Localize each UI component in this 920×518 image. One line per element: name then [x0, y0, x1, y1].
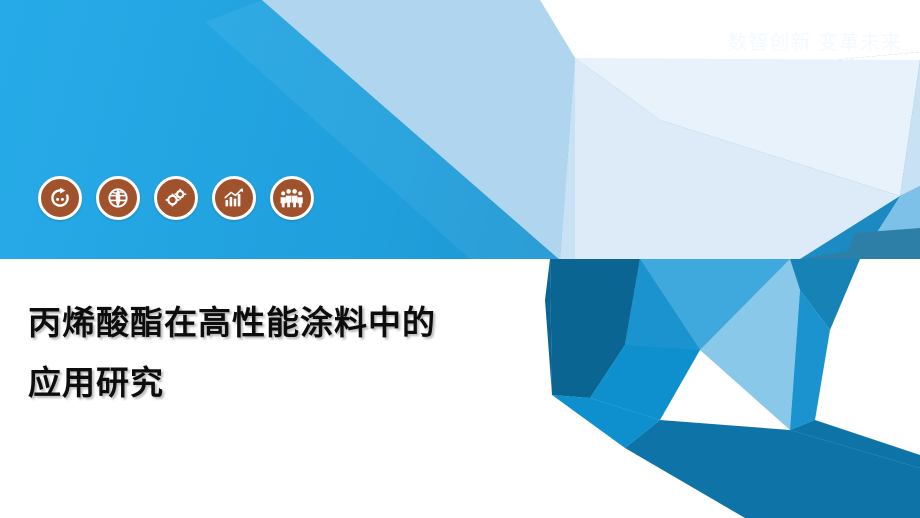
page-title: 丙烯酸酯在高性能涂料中的 应用研究	[28, 293, 548, 413]
poly-paleblue-left	[262, 0, 575, 260]
gears-icon[interactable]	[154, 176, 198, 220]
title-line-1: 丙烯酸酯在高性能涂料中的	[28, 293, 548, 353]
globe-icon[interactable]	[96, 176, 140, 220]
globe-glyph	[106, 186, 130, 210]
title-line-2: 应用研究	[28, 353, 548, 413]
bar-chart-icon[interactable]	[212, 176, 256, 220]
icon-badge-row	[38, 176, 314, 220]
slide-canvas: 数智创新 变革未来	[0, 0, 920, 518]
bar-chart-glyph	[222, 186, 246, 210]
gears-glyph	[163, 185, 189, 211]
people-group-icon[interactable]	[270, 176, 314, 220]
polygon-artwork	[0, 0, 920, 518]
poly-header-corner	[845, 228, 920, 259]
header-subtitle: 数智创新 变革未来	[727, 26, 902, 55]
refresh-cycle-glyph	[48, 186, 72, 210]
people-group-glyph	[279, 185, 305, 211]
poly-strip-bottom	[625, 420, 920, 518]
refresh-cycle-icon[interactable]	[38, 176, 82, 220]
